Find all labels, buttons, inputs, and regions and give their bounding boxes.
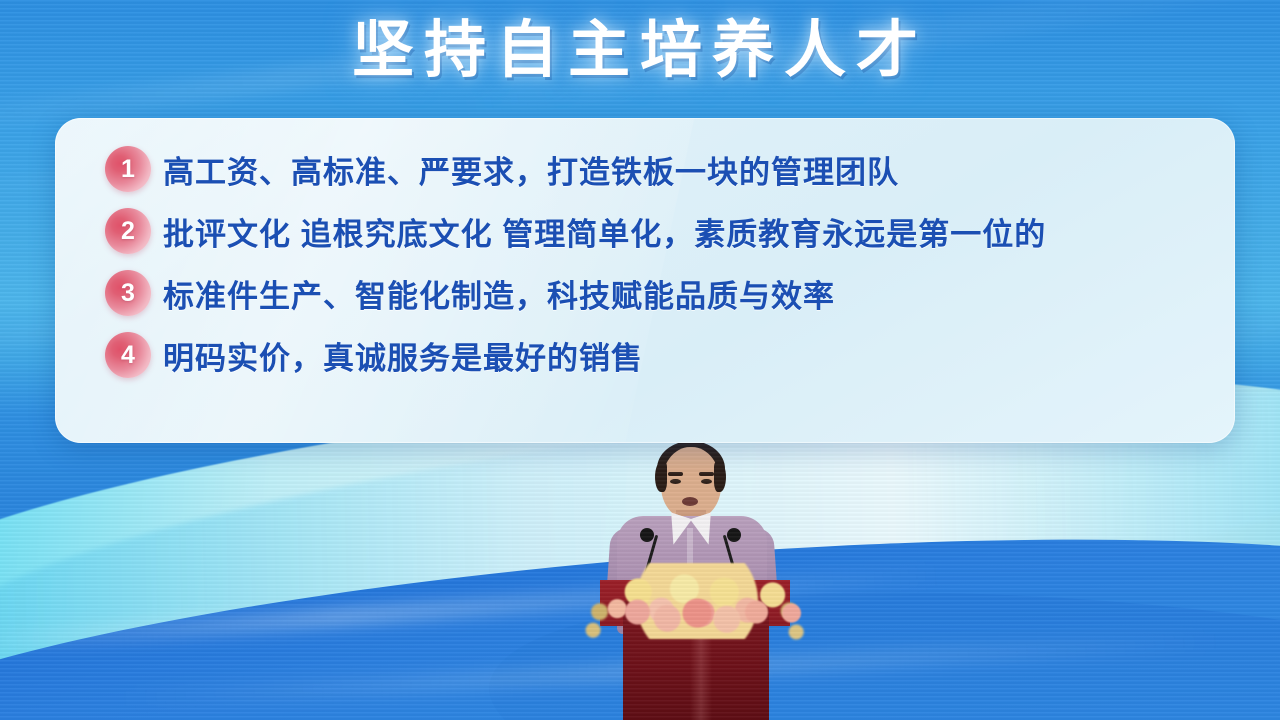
microphone-icon [727, 528, 741, 542]
bullet-list: 1 高工资、高标准、严要求，打造铁板一块的管理团队 2 批评文化 追根究底文化 … [105, 138, 1215, 386]
bullet-number-badge: 1 [105, 146, 151, 192]
slide-title: 坚持自主培养人才 [0, 12, 1280, 90]
speaker-eye-right [701, 479, 712, 484]
presentation-slide: 坚持自主培养人才 1 高工资、高标准、严要求，打造铁板一块的管理团队 2 批评文… [0, 0, 1280, 720]
bullet-text: 标准件生产、智能化制造，科技赋能品质与效率 [163, 271, 835, 316]
bullet-text: 明码实价，真诚服务是最好的销售 [163, 333, 643, 378]
speaker-hair-right [714, 462, 726, 492]
speaker-eyebrow-left [668, 472, 683, 476]
speaker-mouth [682, 497, 698, 506]
bullet-number-badge: 4 [105, 332, 151, 378]
bullet-number: 3 [121, 281, 135, 306]
bullet-card: 1 高工资、高标准、严要求，打造铁板一块的管理团队 2 批评文化 追根究底文化 … [55, 118, 1235, 443]
bullet-number-badge: 2 [105, 208, 151, 254]
list-item: 3 标准件生产、智能化制造，科技赋能品质与效率 [105, 262, 1215, 324]
list-item: 1 高工资、高标准、严要求，打造铁板一块的管理团队 [105, 138, 1215, 200]
speaker-hair-left [655, 462, 667, 492]
flower-arrangement-front [604, 586, 790, 638]
speaker-shirt-placket [687, 528, 693, 568]
bullet-number: 2 [121, 219, 135, 244]
bullet-text: 批评文化 追根究底文化 管理简单化，素质教育永远是第一位的 [163, 209, 1046, 254]
speaker-eyebrow-right [699, 472, 714, 476]
bullet-number-badge: 3 [105, 270, 151, 316]
bullet-number: 4 [121, 343, 135, 368]
bullet-number: 1 [121, 157, 135, 182]
microphone-icon [640, 528, 654, 542]
list-item: 4 明码实价，真诚服务是最好的销售 [105, 324, 1215, 386]
bullet-text: 高工资、高标准、严要求，打造铁板一块的管理团队 [163, 147, 899, 192]
speaker-head [661, 447, 721, 519]
list-item: 2 批评文化 追根究底文化 管理简单化，素质教育永远是第一位的 [105, 200, 1215, 262]
speaker-eye-left [670, 479, 681, 484]
